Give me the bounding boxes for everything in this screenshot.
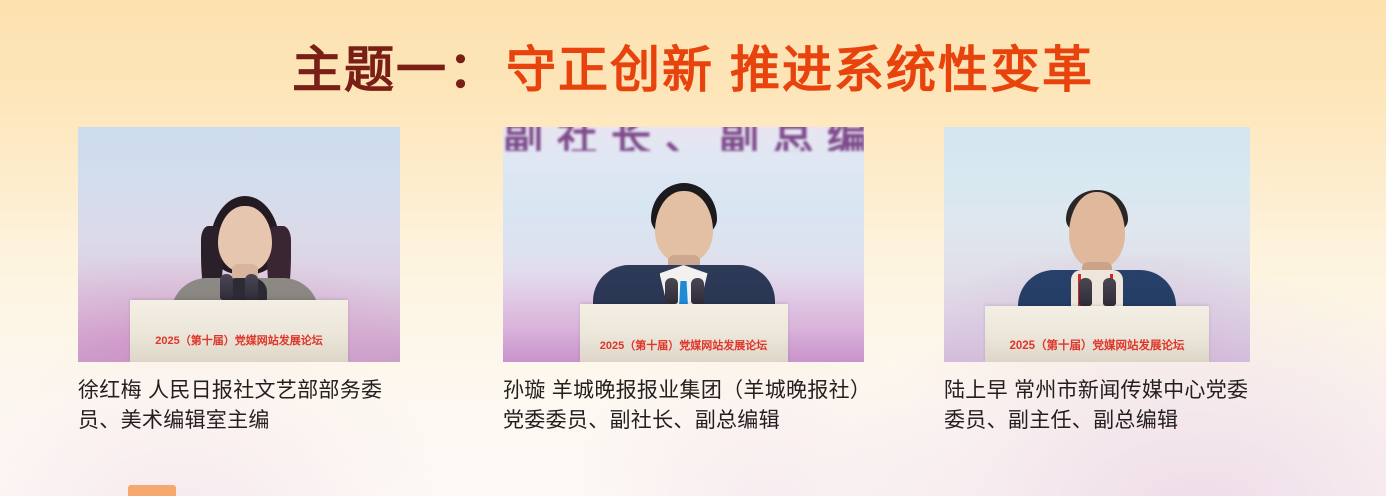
- microphone-right: [691, 278, 704, 304]
- speaker-caption: 孙璇 羊城晚报报业集团（羊城晚报社）党委委员、副社长、副总编辑: [503, 376, 864, 436]
- speaker-photo: 2025（第十届）党媒网站发展论坛: [78, 127, 400, 362]
- slide-root: 主题一：守正创新 推进系统性变革 2025（第十届）党媒: [0, 0, 1386, 496]
- head-shape: [218, 206, 272, 272]
- title-topic-prefix: 主题一：: [292, 42, 500, 98]
- speaker-caption: 陆上早 常州市新闻传媒中心党委委员、副主任、副总编辑: [944, 376, 1250, 436]
- speaker-cards: 2025（第十届）党媒网站发展论坛 徐红梅 人民日报社文艺部部务委员、美术编辑室…: [0, 127, 1386, 467]
- podium: 2025（第十届）党媒网站发展论坛: [580, 304, 788, 362]
- speaker-card[interactable]: 2025（第十届）党媒网站发展论坛 徐红梅 人民日报社文艺部部务委员、美术编辑室…: [78, 127, 400, 436]
- microphone-right: [1103, 278, 1116, 306]
- podium-banner-text: 2025（第十届）党媒网站发展论坛: [155, 332, 322, 348]
- podium: 2025（第十届）党媒网站发展论坛: [130, 300, 348, 362]
- podium: 2025（第十届）党媒网站发展论坛: [985, 306, 1209, 362]
- head-shape: [1069, 192, 1125, 268]
- speaker-photo: 2025（第十届）党媒网站发展论坛: [944, 127, 1250, 362]
- speaker-card[interactable]: 2025（第十届）党媒网站发展论坛 陆上早 常州市新闻传媒中心党委委员、副主任、…: [944, 127, 1250, 436]
- microphone-right: [245, 274, 258, 300]
- podium-banner-text: 2025（第十届）党媒网站发展论坛: [600, 337, 767, 353]
- slide-title: 主题一：守正创新 推进系统性变革: [0, 40, 1386, 100]
- podium-banner-text: 2025（第十届）党媒网站发展论坛: [1009, 337, 1184, 353]
- speaker-photo: 副社长、副总编 2025（第十届）党媒网站发展论坛: [503, 127, 864, 362]
- title-topic-main: 守正创新 推进系统性变革: [506, 42, 1094, 98]
- microphone-left: [665, 278, 678, 304]
- bottom-progress-pill[interactable]: [128, 485, 176, 496]
- head-shape: [655, 191, 713, 263]
- microphone-left: [220, 274, 233, 300]
- microphone-left: [1079, 278, 1092, 306]
- stage-screen-text: 副社长、副总编: [503, 127, 864, 151]
- speaker-card[interactable]: 副社长、副总编 2025（第十届）党媒网站发展论坛 孙璇 羊城晚报报业集团（羊城…: [503, 127, 864, 436]
- speaker-caption: 徐红梅 人民日报社文艺部部务委员、美术编辑室主编: [78, 376, 400, 436]
